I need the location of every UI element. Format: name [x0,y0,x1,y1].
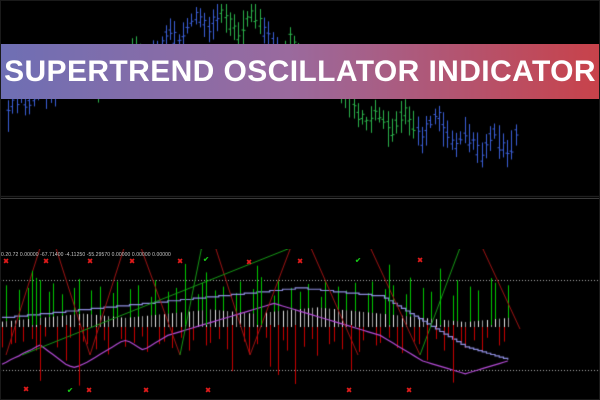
banner: SUPERTREND OSCILLATOR INDICATOR [0,44,600,99]
chart-gap [0,199,600,249]
oscillator-panel[interactable]: 0.20.72 0.00000 -67.71400 -4.11250 -55.2… [0,249,600,400]
screenshot-root: SUPERTREND OSCILLATOR INDICATOR 0.20.72 … [0,0,600,400]
oscillator-readout: 0.20.72 0.00000 -67.71400 -4.11250 -55.2… [1,252,171,259]
oscillator-canvas[interactable] [0,249,600,400]
banner-title: SUPERTREND OSCILLATOR INDICATOR [4,55,596,89]
price-chart-canvas[interactable] [0,0,600,199]
price-chart-panel[interactable] [0,0,600,199]
